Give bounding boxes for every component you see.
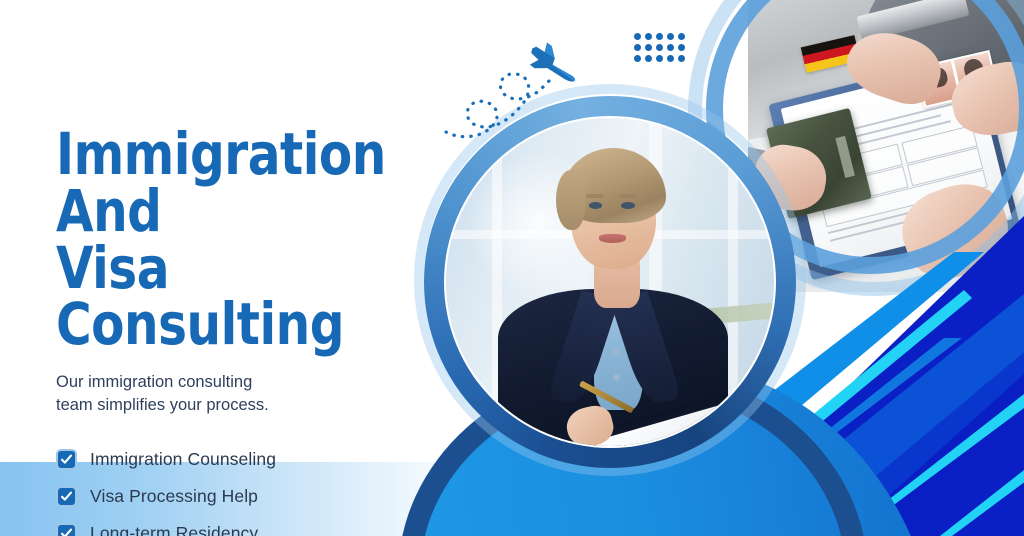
list-item: Visa Processing Help <box>56 486 456 507</box>
mouth <box>599 234 627 243</box>
window-mullion <box>728 118 738 446</box>
eyebrow-right <box>619 194 637 198</box>
list-item: Long-term Residency <box>56 523 456 536</box>
airplane-body <box>524 38 583 93</box>
hair-side <box>556 170 586 229</box>
checklist-label: Long-term Residency <box>90 523 258 536</box>
airplane-icon <box>438 28 598 143</box>
eyebrow-left <box>586 194 604 198</box>
eye-right <box>621 202 635 209</box>
list-item: Immigration Counseling <box>56 449 456 470</box>
checklist-label: Visa Processing Help <box>90 486 258 507</box>
eye-left <box>589 202 603 209</box>
dot-grid-icon <box>634 33 689 66</box>
consultant-portrait-photo <box>446 118 774 446</box>
airplane-trail-svg <box>438 28 598 143</box>
feature-checklist: Immigration Counseling Visa Processing H… <box>56 449 456 536</box>
banner-content: Immigration And Visa Consulting Our immi… <box>56 126 456 536</box>
subtitle-text: Our immigration consulting team simplifi… <box>56 371 456 417</box>
checkbox-checked-icon[interactable] <box>56 523 77 536</box>
checkbox-checked-icon[interactable] <box>56 449 77 470</box>
immigration-visa-banner: Immigration And Visa Consulting Our immi… <box>0 0 1024 536</box>
checklist-label: Immigration Counseling <box>90 449 276 470</box>
checkbox-checked-icon[interactable] <box>56 486 77 507</box>
page-title: Immigration And Visa Consulting <box>56 126 428 353</box>
